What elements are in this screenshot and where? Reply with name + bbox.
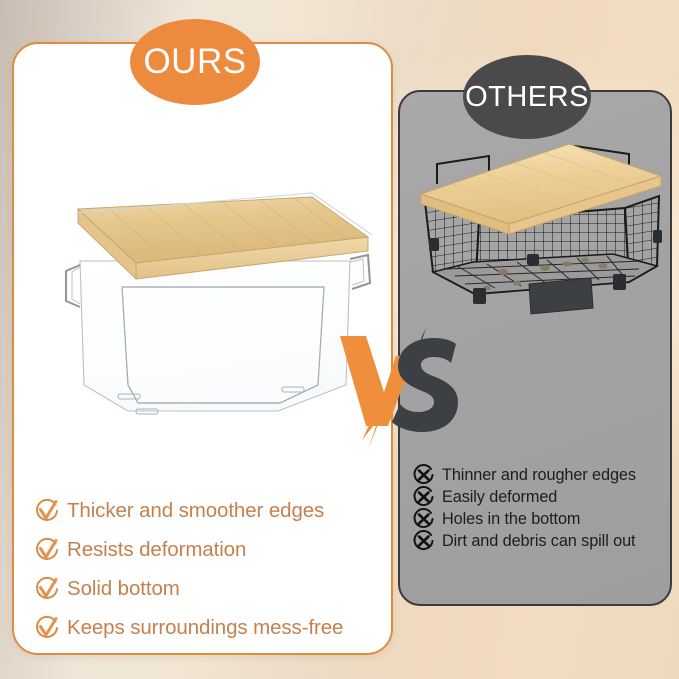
x-circle-icon <box>413 464 435 486</box>
list-item: Thinner and rougher edges <box>413 464 671 486</box>
list-item-label: Thinner and rougher edges <box>442 466 636 485</box>
others-panel: Thinner and rougher edges Easily deforme… <box>398 90 672 606</box>
list-item: Solid bottom <box>34 569 389 608</box>
list-item: Dirt and debris can spill out <box>413 530 671 552</box>
list-item-label: Dirt and debris can spill out <box>442 532 635 551</box>
comparison-infographic: Thicker and smoother edges Resists defor… <box>0 0 679 679</box>
list-item-label: Thicker and smoother edges <box>67 499 324 523</box>
list-item: Easily deformed <box>413 486 671 508</box>
x-circle-icon <box>413 508 435 530</box>
ours-badge-label: OURS <box>143 42 246 82</box>
list-item: Resists deformation <box>34 530 389 569</box>
list-item-label: Resists deformation <box>67 538 246 562</box>
check-circle-icon <box>34 537 60 563</box>
x-circle-icon <box>413 530 435 552</box>
others-feature-list: Thinner and rougher edges Easily deforme… <box>413 464 671 552</box>
list-item-label: Keeps surroundings mess-free <box>67 616 343 640</box>
x-circle-icon <box>413 486 435 508</box>
list-item-label: Easily deformed <box>442 488 557 507</box>
others-badge: OTHERS <box>463 55 591 139</box>
check-circle-icon <box>34 576 60 602</box>
list-item: Holes in the bottom <box>413 508 671 530</box>
others-product-image <box>417 142 669 342</box>
others-badge-label: OTHERS <box>465 81 589 114</box>
check-circle-icon <box>34 615 60 641</box>
ours-feature-list: Thicker and smoother edges Resists defor… <box>34 491 389 647</box>
list-item-label: Solid bottom <box>67 577 180 601</box>
ours-badge: OURS <box>130 19 260 105</box>
list-item-label: Holes in the bottom <box>442 510 580 529</box>
list-item: Keeps surroundings mess-free <box>34 608 389 647</box>
ours-product-image <box>50 189 380 419</box>
list-item: Thicker and smoother edges <box>34 491 389 530</box>
ours-panel: Thicker and smoother edges Resists defor… <box>12 42 393 655</box>
check-circle-icon <box>34 498 60 524</box>
